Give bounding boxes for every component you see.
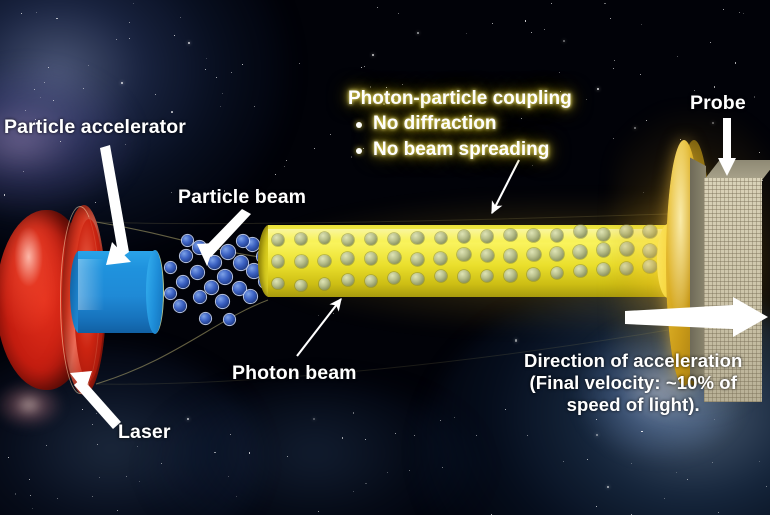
callout-heading: Photon-particle coupling	[348, 86, 572, 111]
star	[596, 419, 597, 420]
star	[275, 174, 276, 175]
star	[15, 493, 17, 495]
star	[492, 23, 493, 24]
label-direction-of-acceleration: Direction of acceleration (Final velocit…	[524, 350, 742, 415]
star	[139, 481, 141, 483]
star	[222, 93, 223, 94]
star	[646, 120, 647, 121]
star	[60, 141, 61, 142]
star	[333, 313, 334, 314]
star	[597, 88, 599, 90]
star	[96, 413, 97, 414]
star	[563, 461, 564, 462]
star	[284, 166, 285, 167]
particle	[180, 250, 192, 262]
nebula-top-left-core	[0, 60, 140, 220]
particle	[200, 313, 211, 324]
label-laser: Laser	[118, 421, 171, 444]
particle	[216, 295, 229, 308]
star	[231, 72, 232, 73]
star	[664, 498, 665, 499]
star	[766, 486, 767, 487]
particle	[174, 300, 186, 312]
star	[614, 60, 615, 61]
star	[92, 496, 93, 497]
star	[155, 94, 156, 95]
star	[97, 444, 98, 445]
star	[214, 452, 216, 454]
star	[116, 39, 117, 40]
star	[48, 67, 49, 68]
label-particle-accelerator: Particle accelerator	[4, 116, 186, 139]
star	[610, 18, 611, 19]
star	[739, 12, 740, 13]
star	[287, 456, 288, 457]
star	[613, 138, 614, 139]
star	[440, 420, 442, 422]
star	[353, 491, 354, 492]
callout-photon-particle-coupling: Photon-particle coupling No diffraction …	[348, 86, 572, 162]
particle	[165, 262, 176, 273]
star	[442, 467, 444, 469]
star	[677, 56, 678, 57]
star	[92, 424, 93, 425]
label-probe: Probe	[690, 92, 746, 115]
star	[32, 508, 33, 509]
star	[30, 495, 31, 496]
callout-bullet-2: No beam spreading	[348, 137, 572, 162]
particle	[177, 276, 189, 288]
star	[216, 77, 217, 78]
star	[395, 433, 396, 434]
accelerator-cylinder	[78, 251, 154, 333]
star	[29, 479, 30, 480]
particle	[221, 245, 235, 259]
star	[723, 9, 725, 11]
star	[174, 35, 175, 36]
star	[712, 462, 713, 463]
star	[129, 22, 130, 23]
star	[254, 106, 255, 107]
star	[377, 7, 378, 8]
star	[314, 148, 315, 149]
star	[230, 434, 231, 435]
particle	[205, 281, 218, 294]
star	[299, 63, 300, 64]
star	[596, 506, 597, 507]
particle	[233, 282, 246, 295]
star	[242, 64, 243, 65]
star	[587, 459, 588, 460]
star	[342, 437, 344, 439]
star	[515, 339, 517, 341]
star	[180, 17, 181, 18]
star	[188, 42, 190, 44]
star	[228, 476, 229, 477]
star	[361, 67, 362, 68]
star	[743, 13, 744, 14]
star	[318, 315, 319, 316]
particle	[234, 256, 248, 270]
star	[676, 472, 677, 473]
bullet-dot-icon	[356, 148, 362, 154]
star	[754, 96, 756, 98]
particle	[191, 266, 204, 279]
star	[466, 33, 467, 34]
star	[476, 435, 477, 436]
arrow-up-right-icon	[297, 299, 341, 356]
star	[187, 418, 189, 420]
star	[714, 419, 715, 420]
particle	[182, 235, 193, 246]
particle	[246, 238, 259, 251]
star	[759, 152, 760, 153]
star	[563, 40, 565, 42]
star	[641, 431, 643, 433]
star	[505, 409, 506, 410]
star	[631, 463, 632, 464]
star	[4, 194, 6, 196]
star	[641, 24, 642, 25]
star	[23, 171, 24, 172]
star	[117, 510, 118, 511]
callout-bullet-2-text: No beam spreading	[373, 137, 549, 162]
star	[21, 13, 22, 14]
particle	[208, 256, 221, 269]
star	[206, 58, 207, 59]
star	[759, 461, 760, 462]
star	[236, 496, 237, 497]
star	[687, 479, 689, 481]
star	[454, 417, 455, 418]
label-photon-beam: Photon beam	[232, 362, 357, 385]
star	[353, 412, 355, 414]
direction-line-2: (Final velocity: ~10% of	[524, 372, 742, 394]
direction-line-3: speed of light).	[524, 394, 742, 416]
star	[95, 202, 96, 203]
star	[417, 32, 419, 34]
accelerator-front-cap	[146, 250, 164, 334]
particle	[237, 235, 249, 247]
star	[694, 90, 695, 91]
bullet-dot-icon	[356, 122, 362, 128]
star	[205, 69, 206, 70]
star	[126, 476, 127, 477]
star	[88, 65, 89, 66]
star	[330, 134, 331, 135]
photon-beam-cylinder	[268, 225, 668, 297]
star	[398, 13, 399, 14]
star	[414, 435, 415, 436]
star	[364, 66, 365, 67]
star	[551, 3, 552, 4]
star	[137, 446, 138, 447]
star	[409, 470, 410, 471]
star	[56, 18, 58, 20]
star	[82, 409, 83, 410]
star	[365, 483, 367, 485]
star	[220, 106, 222, 108]
callout-bullet-1-text: No diffraction	[373, 111, 497, 136]
callout-bullet-1: No diffraction	[348, 111, 572, 136]
star	[249, 452, 251, 454]
particle	[165, 288, 176, 299]
star	[286, 160, 287, 161]
star	[121, 82, 123, 84]
arrow-down-right-icon	[100, 145, 131, 265]
star	[161, 463, 162, 464]
star	[129, 38, 130, 39]
star	[596, 434, 598, 436]
star	[559, 72, 560, 73]
star	[318, 511, 319, 512]
probe-cube-top	[704, 160, 770, 180]
star	[313, 418, 315, 420]
direction-line-1: Direction of acceleration	[524, 350, 742, 372]
star	[607, 486, 609, 488]
star	[643, 192, 644, 193]
star	[714, 86, 716, 88]
star	[387, 472, 388, 473]
accelerator-notch	[112, 250, 122, 258]
star	[735, 62, 737, 64]
star	[640, 74, 641, 75]
star	[36, 12, 37, 13]
star	[133, 3, 134, 4]
particle	[244, 290, 257, 303]
star	[527, 435, 528, 436]
particle	[224, 314, 235, 325]
star	[99, 477, 100, 478]
star	[8, 457, 9, 458]
star	[44, 82, 45, 83]
star	[544, 29, 545, 30]
star	[532, 165, 533, 166]
star	[25, 110, 26, 111]
star	[53, 100, 54, 101]
star	[125, 144, 127, 146]
star	[634, 127, 636, 129]
particle	[218, 270, 232, 284]
particle	[194, 291, 206, 303]
label-particle-beam: Particle beam	[178, 186, 306, 209]
star	[57, 498, 58, 499]
star	[171, 192, 172, 193]
star	[586, 99, 587, 100]
particle	[193, 241, 206, 254]
arrow-down-left-icon	[197, 209, 251, 266]
star	[46, 445, 47, 446]
star	[604, 3, 606, 5]
star	[531, 32, 533, 34]
star	[710, 42, 712, 44]
diagram-canvas: Particle accelerator Particle beam Photo…	[0, 0, 770, 515]
star	[83, 88, 84, 89]
arrow-down-left-icon-coupling	[492, 160, 519, 213]
nebula-bottom-center	[150, 385, 480, 515]
star	[613, 68, 614, 69]
star	[365, 439, 366, 440]
star	[372, 54, 374, 56]
star	[712, 122, 714, 124]
star	[718, 512, 719, 513]
star	[40, 97, 41, 98]
star	[34, 89, 35, 90]
star	[525, 20, 527, 22]
star	[171, 111, 173, 113]
